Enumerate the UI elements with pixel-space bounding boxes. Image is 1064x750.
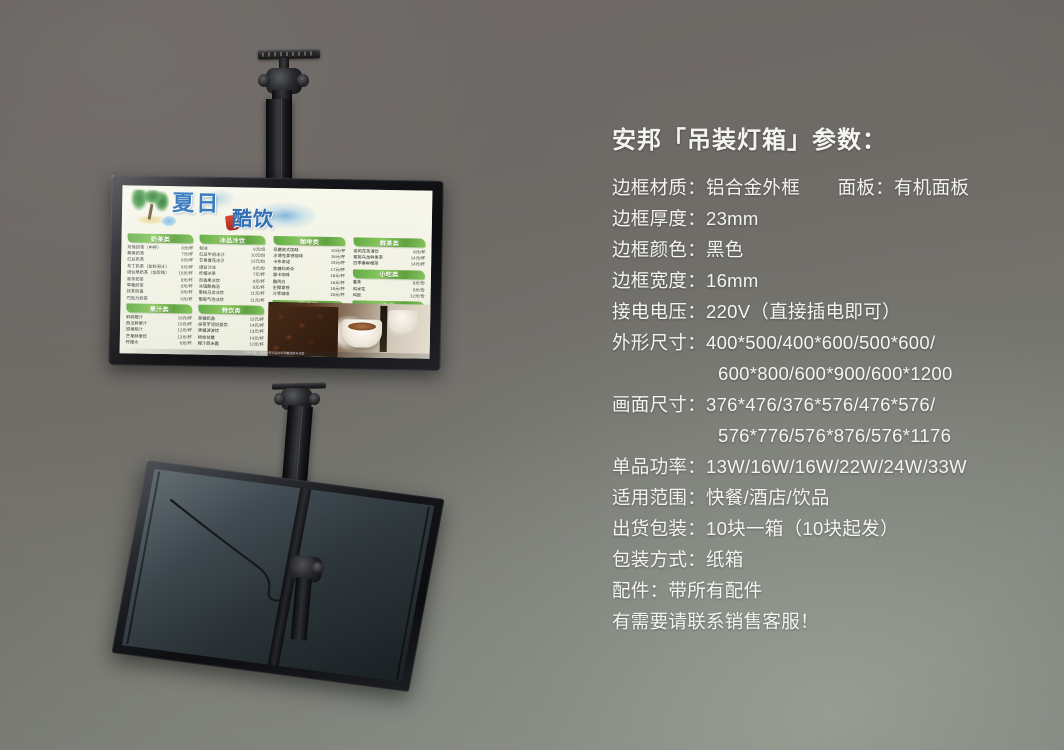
lightbox-acrylic-panel: 夏日 酷饮 奶茶类珍珠奶茶（中杯）8元/杯椰果奶茶7元/杯红豆奶茶8元/杯布丁奶… — [120, 185, 433, 358]
menu-category-header: 咖啡类 — [273, 236, 345, 246]
menu-category: 小吃类薯条8元/份鸡米花9元/份鸡翅12元/份 — [353, 269, 426, 300]
panel-tilt-knob — [312, 562, 324, 574]
menu-item-name: 四季春鲜橙茶 — [353, 261, 379, 268]
lower-bracket-knob-left — [274, 393, 285, 405]
menu-item-price: 9元/杯 — [177, 296, 192, 303]
hanging-pole-upper — [266, 99, 292, 183]
menu-artwork: 夏日 酷饮 奶茶类珍珠奶茶（中杯）8元/杯椰果奶茶7元/杯红豆奶茶8元/杯布丁奶… — [120, 185, 433, 358]
menu-item-name: 巧克力奶茶 — [126, 295, 147, 302]
spec-line: 包装方式：纸箱 — [612, 544, 1042, 575]
ceiling-mount-knob-right — [297, 74, 309, 87]
menu-item-price: 6元/杯 — [177, 341, 192, 348]
spec-line: 边框颜色：黑色 — [612, 234, 1042, 265]
spec-line: 边框厚度：23mm — [612, 203, 1042, 234]
menu-category-label: 咖啡类 — [300, 236, 319, 245]
menu-category-header: 冰品冷饮 — [200, 235, 266, 245]
spec-line: 有需要请联系销售客服！ — [612, 606, 1042, 637]
menu-category-header: 小吃类 — [353, 269, 425, 279]
menu-item-price: 18元/杯 — [327, 292, 345, 299]
menu-item-row: 鸡翅12元/份 — [353, 292, 425, 300]
coffee-beans-image — [268, 306, 339, 357]
menu-category: 奶茶类珍珠奶茶（中杯）8元/杯椰果奶茶7元/杯红豆奶茶8元/杯布丁奶茶（加料另计… — [126, 233, 193, 302]
menu-item-name: 冷萃咖啡 — [273, 291, 290, 298]
menu-category-label: 奶茶类 — [151, 234, 170, 243]
menu-item-price: 14元/杯 — [408, 262, 426, 269]
spec-line: 单品功率：13W/16W/16W/22W/24W/33W — [612, 451, 1042, 482]
spec-line: 576*776/576*876/576*1176 — [612, 420, 1042, 451]
spec-line: 适用范围：快餐/酒店/饮品 — [612, 482, 1042, 513]
coffee-photo — [268, 302, 431, 359]
menu-title-line2: 酷饮 — [232, 209, 274, 230]
product-photo-canvas: 夏日 酷饮 奶茶类珍珠奶茶（中杯）8元/杯椰果奶茶7元/杯红豆奶茶8元/杯布丁奶… — [0, 0, 1064, 750]
spec-line: 边框材质：铝合金外框 面板：有机面板 — [612, 172, 1042, 203]
menu-item-name: 柠檬水 — [126, 340, 139, 347]
menu-item-price: 12元/杯 — [246, 342, 264, 349]
lightbox-back-panel — [111, 460, 444, 692]
menu-category: 冰品冷饮刨冰8元/份红豆牛奶冰沙10元/份芒果雪花冰沙12元/份绿豆沙冰8元/份… — [198, 235, 265, 304]
menu-category: 咖啡类现磨美式咖啡10元/杯冰博克拿铁咖啡16元/杯卡布奇诺15元/杯焦糖玛奇朵… — [273, 236, 346, 299]
spec-panel: 安邦「吊装灯箱」参数： 边框材质：铝合金外框 面板：有机面板边框厚度：23mm边… — [612, 124, 1042, 637]
menu-item-row: 巧克力奶茶9元/杯 — [126, 295, 192, 303]
menu-category-label: 果汁类 — [150, 304, 169, 313]
spec-title: 安邦「吊装灯箱」参数： — [612, 124, 1042, 158]
spec-line: 配件：带所有配件 — [612, 575, 1042, 606]
menu-category: 鲜茶类茉莉花茶清饮8元/杯蜜桃乌龙鲜果茶14元/杯四季春鲜橙茶14元/杯 — [353, 237, 426, 268]
menu-column: 奶茶类珍珠奶茶（中杯）8元/杯椰果奶茶7元/杯红豆奶茶8元/杯布丁奶茶（加料另计… — [126, 233, 194, 349]
ceiling-lightbox-front: 夏日 酷饮 奶茶类珍珠奶茶（中杯）8元/杯椰果奶茶7元/杯红豆奶茶8元/杯布丁奶… — [108, 175, 443, 371]
spec-line: 画面尺寸：376*476/376*576/476*576/ — [612, 389, 1042, 420]
hanging-pole-upper-seam — [281, 99, 282, 183]
menu-category-label: 冰品冷饮 — [220, 235, 246, 244]
menu-column: 冰品冷饮刨冰8元/份红豆牛奶冰沙10元/份芒果雪花冰沙12元/份绿豆沙冰8元/份… — [198, 235, 266, 351]
menu-category: 果汁类鲜榨橙汁10元/杯西瓜鲜果汁10元/杯猕猴桃汁12元/杯芒果鲜果饮12元/… — [126, 304, 193, 348]
menu-item-row: 四季春鲜橙茶14元/杯 — [353, 261, 425, 269]
menu-item-price: 11元/杯 — [247, 297, 264, 304]
menu-item-row: 冷萃咖啡18元/杯 — [273, 291, 345, 299]
menu-item-row: 椰汁西米露12元/杯 — [198, 341, 264, 349]
menu-item-row: 柠檬水6元/杯 — [126, 340, 192, 348]
menu-item-row: 葡萄气泡冰饮11元/杯 — [198, 296, 264, 304]
ceiling-mount-knob-left — [258, 74, 270, 87]
menu-category-header: 鲜茶类 — [353, 237, 425, 247]
menu-category-header: 特饮类 — [198, 305, 264, 315]
menu-hero-banner: 夏日 酷饮 — [122, 185, 433, 240]
coffee-liquid — [348, 322, 376, 330]
menu-category: 特饮类焦糖奶盖12元/杯抹茶芋泥奶盖饮14元/杯黑糖波波饮13元/杯杨枝甘露14… — [198, 305, 265, 349]
menu-category-label: 小吃类 — [379, 270, 398, 279]
menu-category-header: 果汁类 — [126, 304, 192, 314]
menu-category-label: 特饮类 — [222, 305, 241, 314]
coffee-cup-back — [388, 310, 418, 335]
spec-line: 600*800/600*900/600*1200 — [612, 358, 1042, 389]
spec-line: 出货包装：10块一箱（10块起发） — [612, 513, 1042, 544]
menu-category-header: 奶茶类 — [128, 233, 194, 243]
spec-line-list: 边框材质：铝合金外框 面板：有机面板边框厚度：23mm边框颜色：黑色边框宽度：1… — [612, 172, 1042, 637]
menu-item-name: 葡萄气泡冰饮 — [198, 296, 224, 303]
menu-category-label: 鲜茶类 — [380, 238, 399, 247]
menu-item-name: 椰汁西米露 — [198, 341, 219, 348]
spec-line: 接电电压：220V（直接插电即可） — [612, 296, 1042, 327]
spec-line: 外形尺寸：400*500/400*600/500*600/ — [612, 327, 1042, 358]
menu-item-name: 鸡翅 — [353, 292, 362, 299]
menu-title-line1: 夏日 — [172, 192, 220, 215]
menu-item-price: 12元/份 — [407, 293, 425, 300]
bird-icon — [162, 216, 176, 226]
lower-bracket-knob-right — [309, 393, 320, 405]
spec-line: 边框宽度：16mm — [612, 265, 1042, 296]
